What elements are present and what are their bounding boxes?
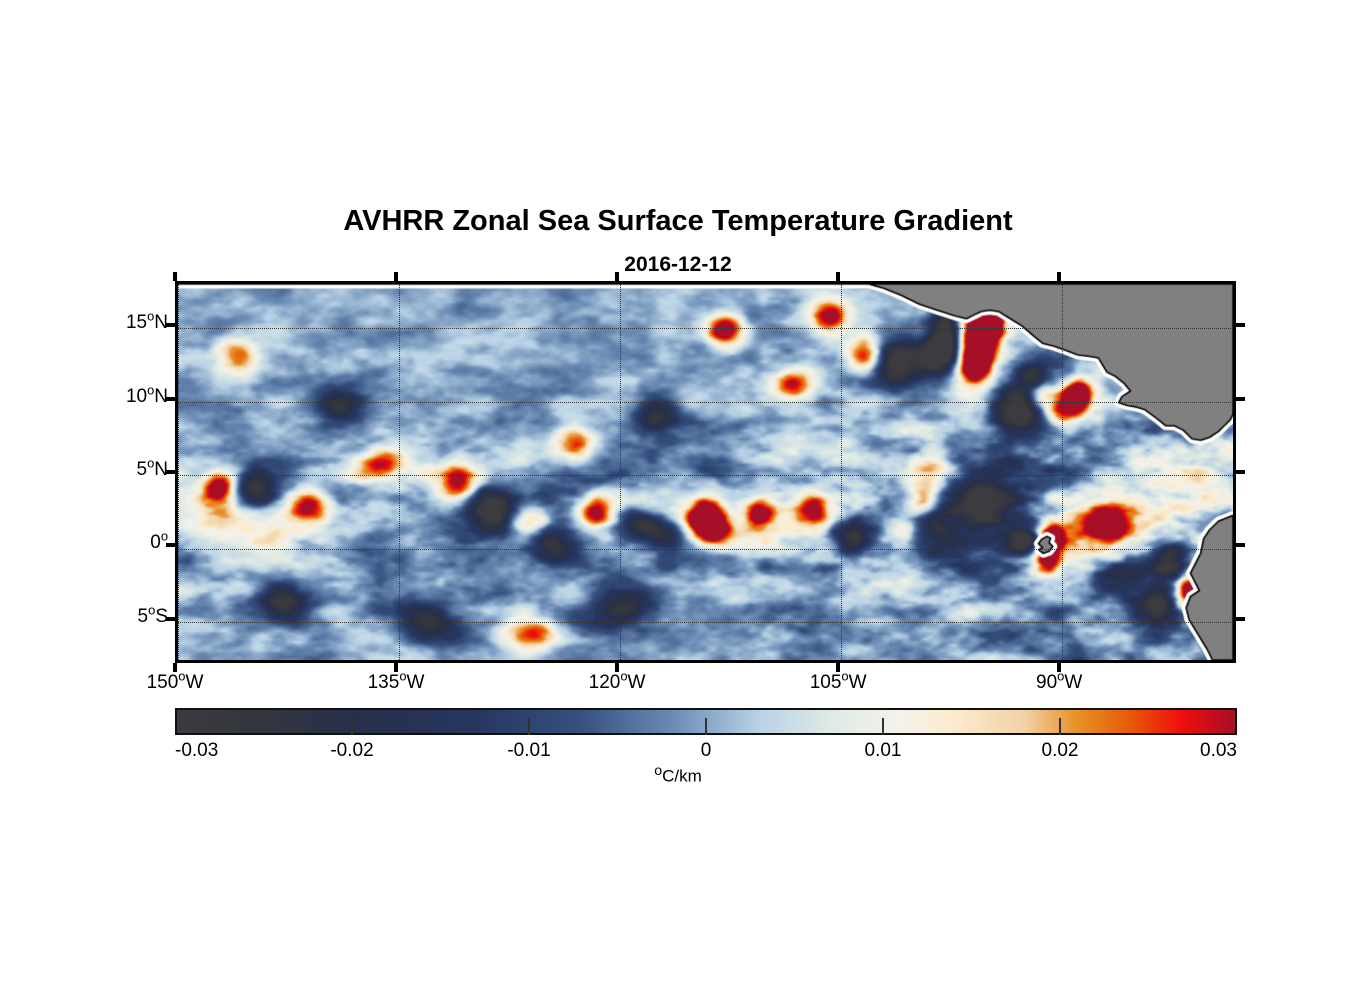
- x-tick-bottom-2: [615, 663, 619, 672]
- colorbar-label-4: 0.01: [865, 740, 902, 762]
- x-axis-label-3: 105oW: [810, 672, 867, 694]
- colorbar-label-5: 0.02: [1042, 740, 1079, 762]
- figure-root: AVHRR Zonal Sea Surface Temperature Grad…: [0, 0, 1356, 1000]
- y-axis-label-4: 5oS: [138, 606, 168, 628]
- y-tick-right-3: [1236, 397, 1245, 401]
- colorbar-label-2: -0.01: [507, 740, 550, 762]
- y-axis-label-1: 10oN: [126, 386, 168, 408]
- sst-gradient-heatmap: [178, 284, 1233, 660]
- y-axis-label-2: 5oN: [137, 459, 169, 481]
- colorbar-label-1: -0.02: [330, 740, 373, 762]
- x-tick-bottom-1: [394, 663, 398, 672]
- y-tick-right-4: [1236, 323, 1245, 327]
- colorbar-tick-1: [351, 718, 353, 735]
- y-tick-right-2: [1236, 470, 1245, 474]
- x-tick-bottom-0: [173, 663, 177, 672]
- x-tick-top-0: [173, 272, 177, 281]
- colorbar-label-0: -0.03: [175, 740, 218, 762]
- colorbar-label-6: 0.03: [1200, 740, 1237, 762]
- y-axis-label-0: 15oN: [126, 312, 168, 334]
- x-tick-bottom-3: [836, 663, 840, 672]
- y-axis-label-3: 0o: [150, 532, 168, 554]
- x-tick-top-4: [1057, 272, 1061, 281]
- x-tick-top-2: [615, 272, 619, 281]
- x-axis-label-2: 120oW: [589, 672, 646, 694]
- figure-subtitle-date: 2016-12-12: [0, 253, 1356, 277]
- colorbar-tick-3: [705, 718, 707, 735]
- y-tick-right-1: [1236, 543, 1245, 547]
- colorbar-units-label: oC/km: [0, 763, 1356, 787]
- colorbar-tick-5: [1059, 718, 1061, 735]
- x-tick-top-3: [836, 272, 840, 281]
- x-axis-label-1: 135oW: [368, 672, 425, 694]
- colorbar-tick-4: [882, 718, 884, 735]
- colorbar-label-3: 0: [701, 740, 712, 762]
- page-title: AVHRR Zonal Sea Surface Temperature Grad…: [0, 205, 1356, 238]
- x-axis-label-4: 90oW: [1036, 672, 1082, 694]
- x-tick-top-1: [394, 272, 398, 281]
- map-axes: [175, 281, 1236, 663]
- x-axis-label-0: 150oW: [147, 672, 204, 694]
- y-tick-right-0: [1236, 617, 1245, 621]
- colorbar-tick-2: [528, 718, 530, 735]
